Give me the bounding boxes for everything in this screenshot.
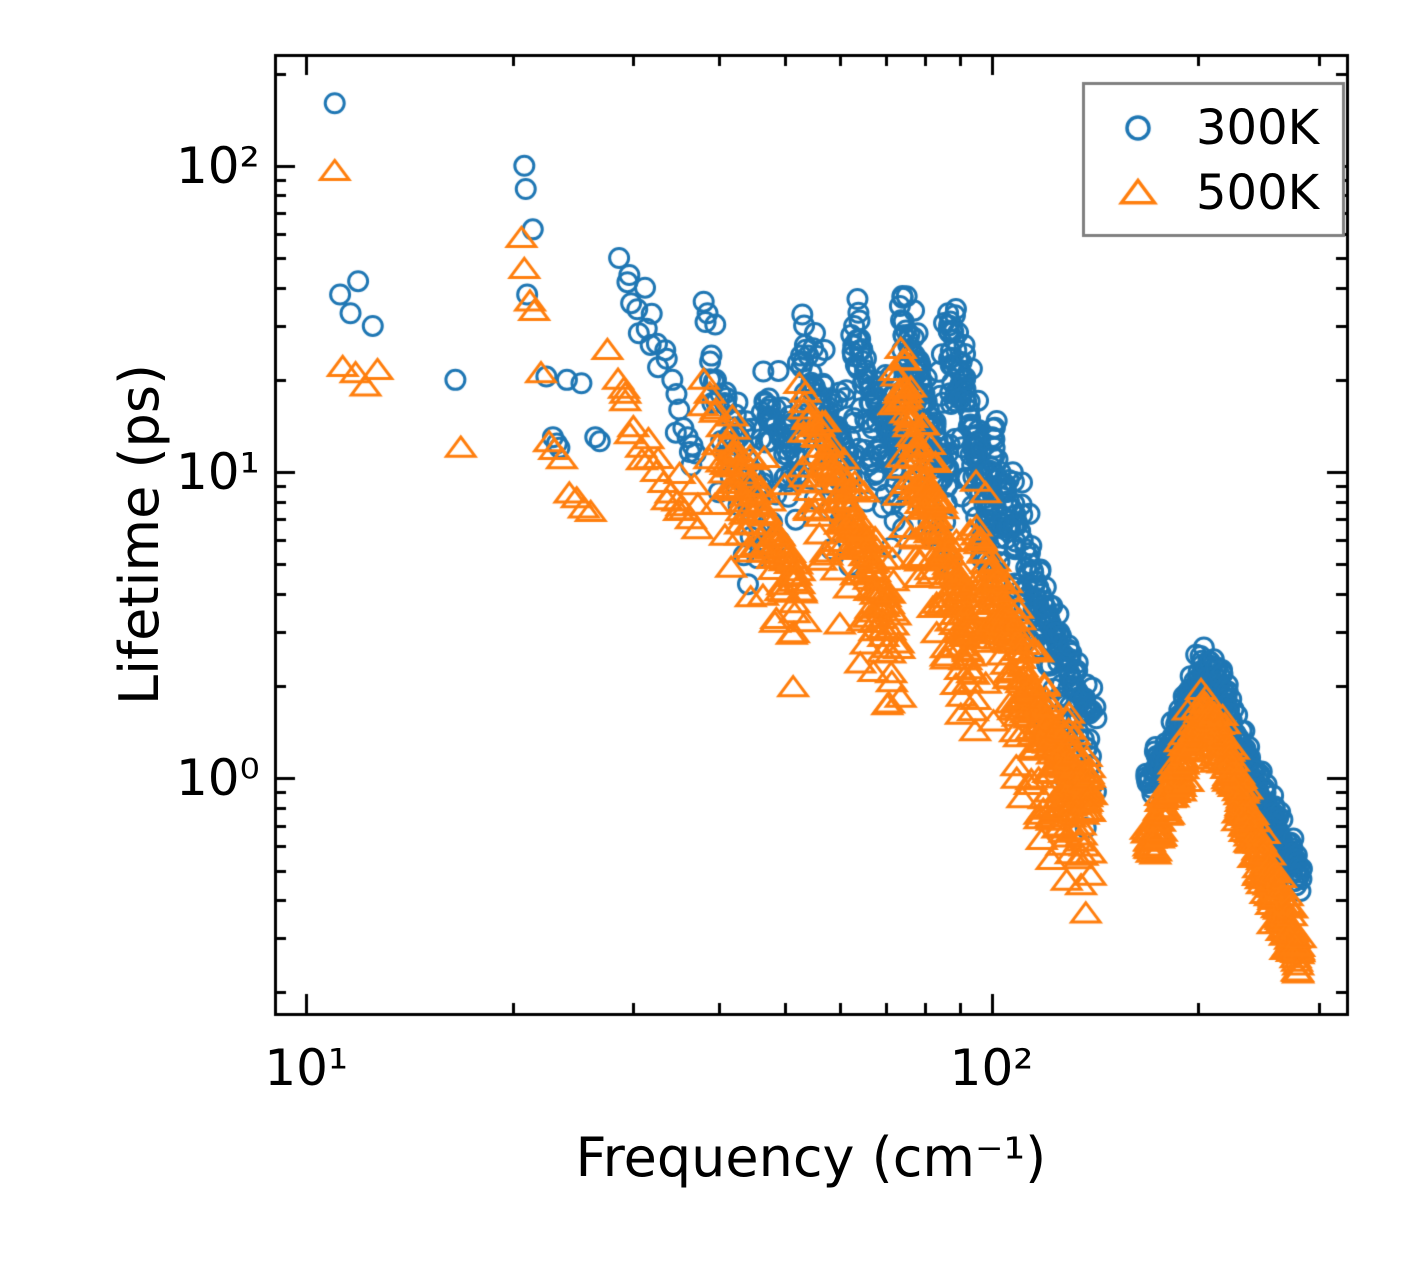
legend-label-500k: 500K — [1196, 165, 1319, 221]
legend-label-300k: 300K — [1196, 100, 1319, 156]
y-tick-label-1: 10⁰ — [176, 749, 260, 807]
y-tick-label-10: 10¹ — [176, 443, 260, 501]
x-tick-label-10: 10¹ — [264, 1039, 348, 1097]
y-axis-title: Lifetime (ps) — [108, 364, 171, 705]
y-tick-label-100: 10² — [176, 137, 260, 195]
x-axis-title: Frequency (cm⁻¹) — [576, 1126, 1047, 1189]
phonon-lifetime-figure: 10² 10¹ 10⁰ 10¹ 10² Lifetime (ps) Freque… — [0, 0, 1408, 1265]
x-tick-label-100: 10² — [950, 1039, 1034, 1097]
